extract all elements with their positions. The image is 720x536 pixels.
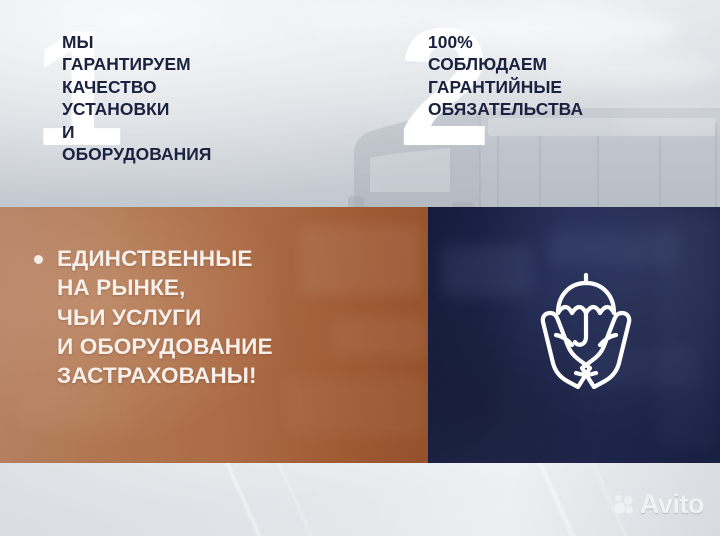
panel-texture [330,317,426,357]
panel-texture [20,389,130,429]
bullet-dot-icon [34,255,43,264]
highlight-orange-panel: Единственные на рынке, чьи услуги и обор… [0,207,428,463]
panel-texture [658,217,718,447]
avito-wordmark: Avito [640,491,704,518]
panel-texture [442,245,532,297]
features-section: 1 Мы гарантируем качество установки и об… [0,0,720,207]
umbrella-in-hands-icon [520,263,652,389]
avito-watermark: Avito [613,491,704,518]
highlight-band: Единственные на рынке, чьи услуги и обор… [0,207,720,463]
highlight-bullet-text: Единственные на рынке, чьи услуги и обор… [57,244,273,391]
feature-text-1: Мы гарантируем качество установки и обор… [62,31,211,166]
feature-text-2: 100% Соблюдаем гарантийные обязательства [428,31,583,121]
promo-banner: 1 Мы гарантируем качество установки и об… [0,0,720,536]
highlight-bullet-item: Единственные на рынке, чьи услуги и обор… [34,244,273,391]
avito-dots-icon [613,494,635,516]
panel-texture [300,225,420,295]
highlight-navy-panel [428,207,720,463]
panel-texture [286,377,426,435]
